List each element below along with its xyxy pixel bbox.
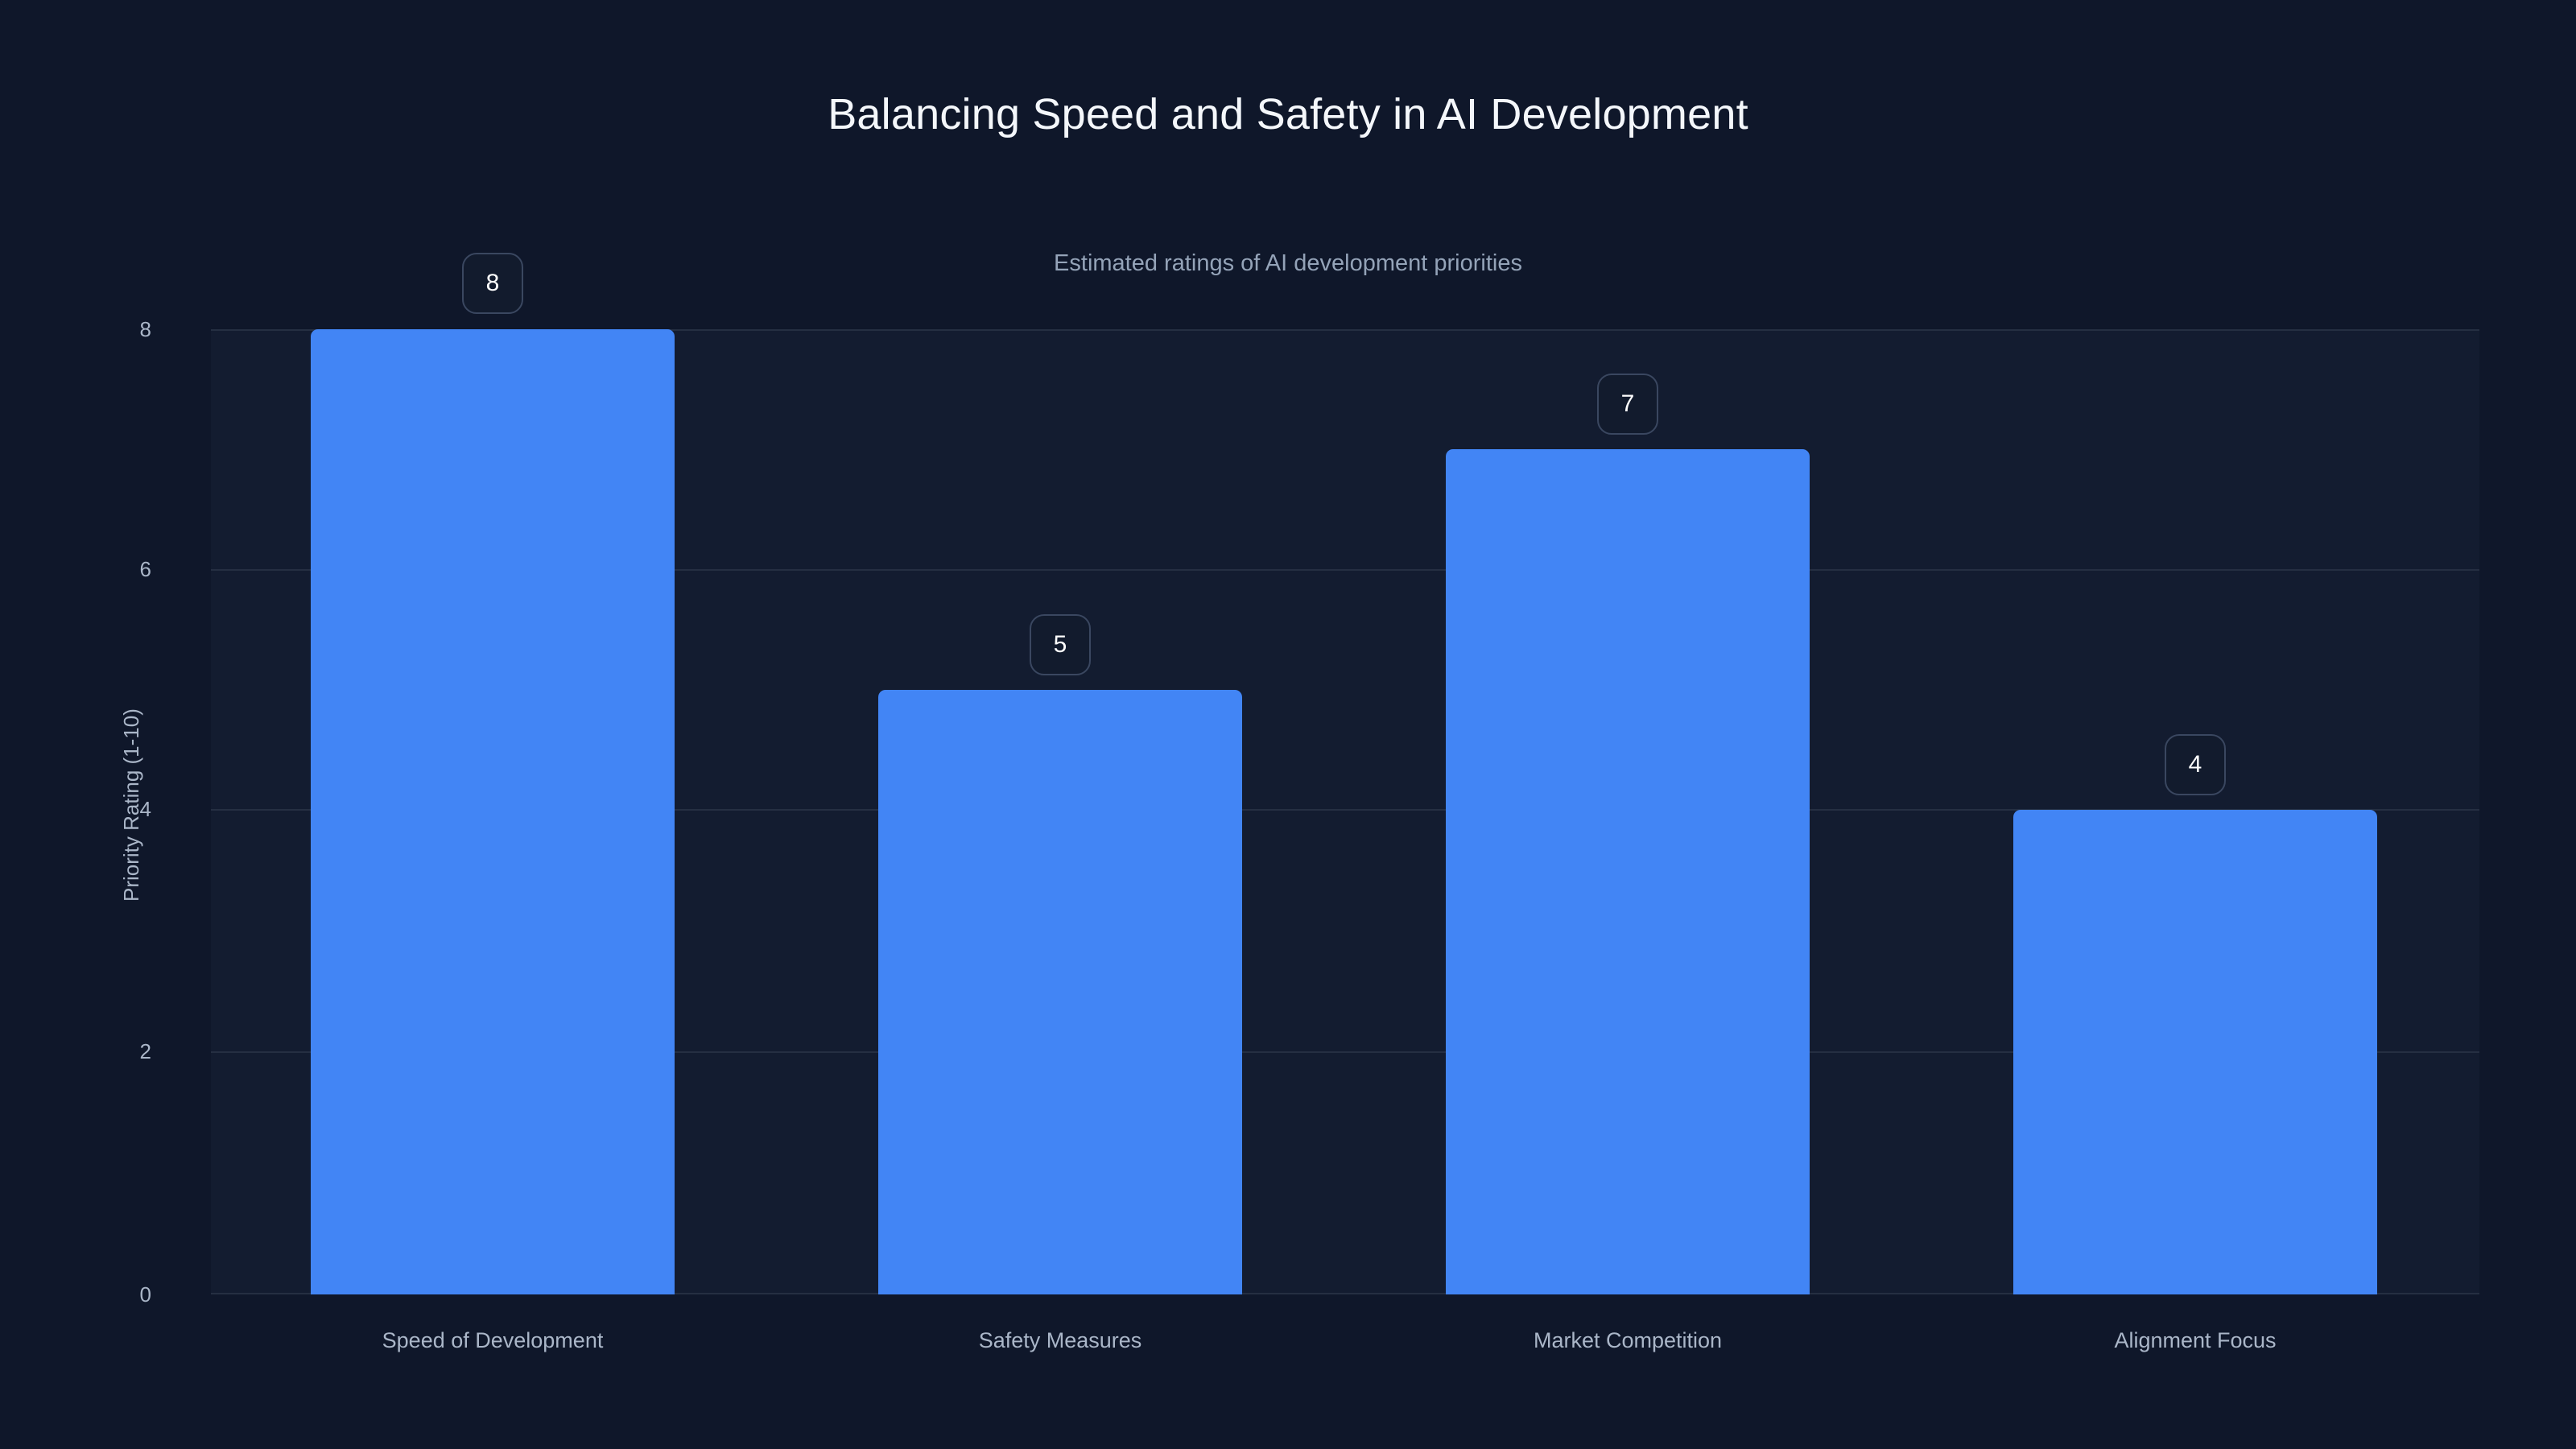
value-badge-market-competition: 7 [1597,374,1658,435]
bar-chart-figure: Balancing Speed and Safety in AI Develop… [0,0,2576,1449]
value-badge-speed-of-development: 8 [462,253,523,314]
x-tick-label-speed-of-development: Speed of Development [243,1327,742,1354]
x-tick-label-market-competition: Market Competition [1378,1327,1877,1354]
value-badge-alignment-focus: 4 [2165,734,2226,795]
y-tick-label-2: 2 [55,1041,151,1062]
value-badge-safety-measures: 5 [1030,614,1091,675]
y-tick-label-8: 8 [55,319,151,340]
bar-safety-measures[interactable] [878,690,1242,1294]
chart-subtitle: Estimated ratings of AI development prio… [0,247,2576,279]
bar-alignment-focus[interactable] [2013,810,2377,1294]
chart-title: Balancing Speed and Safety in AI Develop… [0,89,2576,140]
y-tick-label-6: 6 [55,559,151,580]
bar-speed-of-development[interactable] [311,329,675,1294]
y-tick-label-0: 0 [55,1284,151,1305]
y-tick-label-4: 4 [55,799,151,819]
bar-market-competition[interactable] [1446,449,1810,1294]
x-tick-label-safety-measures: Safety Measures [811,1327,1310,1354]
x-tick-label-alignment-focus: Alignment Focus [1946,1327,2445,1354]
